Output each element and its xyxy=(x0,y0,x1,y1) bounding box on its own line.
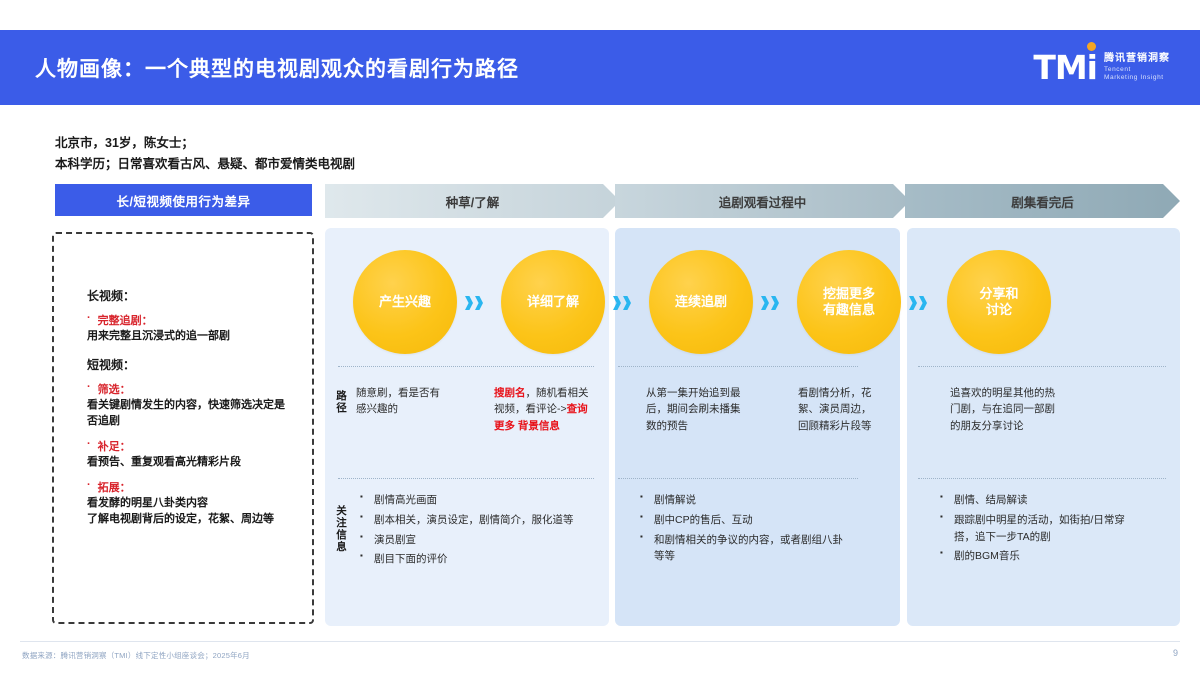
persona-line-1: 北京市，31岁，陈女士； xyxy=(55,133,355,154)
video-behavior-body-1-1: 看预告、重复观看高光精彩片段 xyxy=(87,455,286,471)
logo-wordmark-text: TMi xyxy=(1033,48,1097,87)
logo-cn-label: 腾讯营销洞察 xyxy=(1104,53,1170,66)
video-behavior-content: 长视频：·完整追剧：用来完整且沉浸式的追一部剧短视频：·筛选：看关键剧情发生的内… xyxy=(54,234,312,528)
slide-header: 人物画像：一个典型的电视剧观众的看剧行为路径 TMi 腾讯营销洞察 Tencen… xyxy=(0,30,1200,105)
video-behavior-bullet-1-2: ·拓展： xyxy=(87,479,286,495)
focus-list-item: 跟踪剧中明星的活动，如街拍/日常穿搭，追下一步TA的剧 xyxy=(940,512,1130,546)
video-behavior-body-1-0: 看关键剧情发生的内容，快速筛选决定是否追剧 xyxy=(87,398,286,430)
path-segment-2-0: 从第一集开始追到最后，期间会刷未播集数的预告 xyxy=(646,387,741,432)
path-cell-2: 从第一集开始追到最后，期间会刷未播集数的预告 xyxy=(646,385,741,434)
focus-list-item: 剧的BGM音乐 xyxy=(940,548,1130,565)
logo-wordmark: TMi xyxy=(1033,51,1097,84)
stage-chevron-band: 种草/了解 追剧观看过程中 剧集看完后 xyxy=(325,184,1180,218)
focus-list-item: 剧中CP的售后、互动 xyxy=(640,512,852,529)
row-divider-top-1 xyxy=(618,366,858,367)
left-panel-title-label: 长/短视频使用行为差异 xyxy=(117,191,251,210)
focus-list-item: 剧情解说 xyxy=(640,492,852,509)
stage-chevron-1: 追剧观看过程中 xyxy=(615,184,910,218)
journey-bubble-1: 详细了解 xyxy=(501,250,605,354)
bullet-dot-icon: · xyxy=(87,381,91,397)
path-segment-0-0: 随意刷，看是否有感兴趣的 xyxy=(356,387,440,415)
persona-description: 北京市，31岁，陈女士； 本科学历；日常喜欢看古风、悬疑、都市爱情类电视剧 xyxy=(55,133,355,174)
stage-chevron-2: 剧集看完后 xyxy=(905,184,1180,218)
logo-text-block: 腾讯营销洞察 Tencent Marketing Insight xyxy=(1104,53,1170,82)
stage-chevron-label-1: 追剧观看过程中 xyxy=(719,192,807,211)
row-divider-bottom-2 xyxy=(918,478,1166,479)
focus-list-2: 剧情、结局解读跟踪剧中明星的活动，如街拍/日常穿搭，追下一步TA的剧剧的BGM音… xyxy=(940,492,1130,565)
footer-divider xyxy=(20,641,1180,642)
focus-list-item: 剧本相关，演员设定，剧情简介，服化道等 xyxy=(360,512,582,529)
video-behavior-bullet-1-1: ·补足： xyxy=(87,438,286,454)
video-behavior-bullet-0-0: ·完整追剧： xyxy=(87,312,286,328)
bullet-dot-icon: · xyxy=(87,479,91,495)
journey-bubble-2: 连续追剧 xyxy=(649,250,753,354)
row-label-path: 路径 xyxy=(335,390,348,414)
journey-bubble-4: 分享和讨论 xyxy=(947,250,1051,354)
logo-en-line2: Marketing Insight xyxy=(1104,74,1170,82)
row-divider-bottom-1 xyxy=(618,478,858,479)
path-segment-4-0: 追喜欢的明星其他的热门剧，与在追同一部剧的朋友分享讨论 xyxy=(950,387,1055,432)
journey-bubble-label-0: 产生兴趣 xyxy=(379,294,431,310)
chevron-right-icon-2 xyxy=(761,294,791,312)
journey-bubble-label-3: 挖掘更多有趣信息 xyxy=(823,286,875,319)
path-segment-1-0: 搜剧名 xyxy=(494,387,526,399)
path-cell-0: 随意刷，看是否有感兴趣的 xyxy=(356,385,442,418)
focus-cell-2: 剧情、结局解读跟踪剧中明星的活动，如街拍/日常穿搭，追下一步TA的剧剧的BGM音… xyxy=(940,492,1130,568)
journey-bubble-label-2: 连续追剧 xyxy=(675,294,727,310)
chevron-right-icon-0 xyxy=(465,294,495,312)
path-cell-4: 追喜欢的明星其他的热门剧，与在追同一部剧的朋友分享讨论 xyxy=(950,385,1062,434)
focus-list-item: 剧情、结局解读 xyxy=(940,492,1130,509)
bullet-label: 筛选： xyxy=(98,381,131,397)
bullet-label: 补足： xyxy=(98,438,131,454)
bullet-label: 完整追剧： xyxy=(98,312,153,328)
video-behavior-panel: 长视频：·完整追剧：用来完整且沉浸式的追一部剧短视频：·筛选：看关键剧情发生的内… xyxy=(52,232,314,624)
video-behavior-heading-0: 长视频： xyxy=(87,287,286,304)
chevron-right-icon-3 xyxy=(909,294,939,312)
slide-root: 人物画像：一个典型的电视剧观众的看剧行为路径 TMi 腾讯营销洞察 Tencen… xyxy=(0,0,1200,675)
left-panel-title-chip: 长/短视频使用行为差异 xyxy=(55,184,312,216)
row-label-focus: 关注信息 xyxy=(335,505,348,553)
journey-bubble-3: 挖掘更多有趣信息 xyxy=(797,250,901,354)
video-behavior-bullet-1-0: ·筛选： xyxy=(87,381,286,397)
source-note: 数据来源：腾讯营销洞察（TMI）线下定性小组座谈会；2025年6月 xyxy=(22,650,250,661)
focus-list-item: 剧目下面的评价 xyxy=(360,551,582,568)
focus-list-item: 演员剧宣 xyxy=(360,532,582,549)
chevron-right-icon-1 xyxy=(613,294,643,312)
path-cell-1: 搜剧名，随机看相关视频，看评论->查询更多 背景信息 xyxy=(494,385,598,434)
persona-line-2: 本科学历；日常喜欢看古风、悬疑、都市爱情类电视剧 xyxy=(55,154,355,175)
focus-list-0: 剧情高光画面剧本相关，演员设定，剧情简介，服化道等演员剧宣剧目下面的评价 xyxy=(360,492,582,568)
journey-bubble-label-1: 详细了解 xyxy=(527,294,579,310)
video-behavior-body-1-2: 看发酵的明星八卦类内容了解电视剧背后的设定，花絮、周边等 xyxy=(87,496,286,528)
bullet-label: 拓展： xyxy=(98,479,131,495)
row-divider-top-2 xyxy=(918,366,1166,367)
logo-en-line1: Tencent xyxy=(1104,66,1170,74)
row-divider-top-0 xyxy=(338,366,594,367)
video-behavior-body-0-0: 用来完整且沉浸式的追一部剧 xyxy=(87,329,286,345)
focus-list-item: 剧情高光画面 xyxy=(360,492,582,509)
focus-list-1: 剧情解说剧中CP的售后、互动和剧情相关的争议的内容，或者剧组八卦等等 xyxy=(640,492,852,565)
journey-bubble-0: 产生兴趣 xyxy=(353,250,457,354)
stage-chevron-0: 种草/了解 xyxy=(325,184,620,218)
focus-cell-1: 剧情解说剧中CP的售后、互动和剧情相关的争议的内容，或者剧组八卦等等 xyxy=(640,492,852,568)
focus-list-item: 和剧情相关的争议的内容，或者剧组八卦等等 xyxy=(640,532,852,566)
tmi-logo: TMi 腾讯营销洞察 Tencent Marketing Insight xyxy=(1033,51,1170,84)
page-number: 9 xyxy=(1173,648,1178,658)
stage-chevron-label-2: 剧集看完后 xyxy=(1011,192,1074,211)
focus-cell-0: 剧情高光画面剧本相关，演员设定，剧情简介，服化道等演员剧宣剧目下面的评价 xyxy=(360,492,582,571)
path-cell-3: 看剧情分析，花絮、演员周边，回顾精彩片段等 xyxy=(798,385,878,434)
journey-bubble-label-4: 分享和讨论 xyxy=(979,286,1018,319)
video-behavior-heading-1: 短视频： xyxy=(87,356,286,373)
path-segment-3-0: 看剧情分析，花絮、演员周边，回顾精彩片段等 xyxy=(798,387,872,432)
bullet-dot-icon: · xyxy=(87,312,91,328)
page-title: 人物画像：一个典型的电视剧观众的看剧行为路径 xyxy=(35,53,519,83)
row-divider-bottom-0 xyxy=(338,478,594,479)
bullet-dot-icon: · xyxy=(87,438,91,454)
journey-bubble-row: 产生兴趣 详细了解 连续追剧 挖掘更多有趣信息 分享和讨论 xyxy=(325,250,1180,358)
stage-chevron-label-0: 种草/了解 xyxy=(446,192,499,211)
logo-dot-icon xyxy=(1087,42,1096,51)
